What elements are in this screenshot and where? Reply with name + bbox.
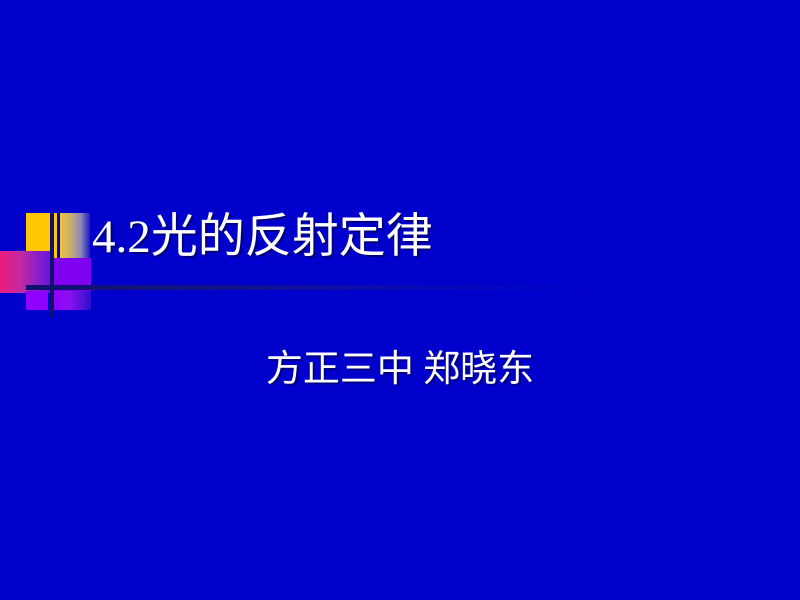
decorative-gold-gradient-panel <box>60 213 90 263</box>
decorative-violet-strip-right <box>52 291 91 310</box>
slide-title: 4.2光的反射定律 <box>92 207 752 267</box>
decorative-vertical-rule <box>50 213 54 317</box>
title-slide: 4.2光的反射定律 方正三中 郑晓东 <box>0 0 800 600</box>
slide-subtitle: 方正三中 郑晓东 <box>0 345 800 395</box>
decorative-violet-strip-left <box>26 291 48 310</box>
title-underline-rule <box>26 285 606 290</box>
